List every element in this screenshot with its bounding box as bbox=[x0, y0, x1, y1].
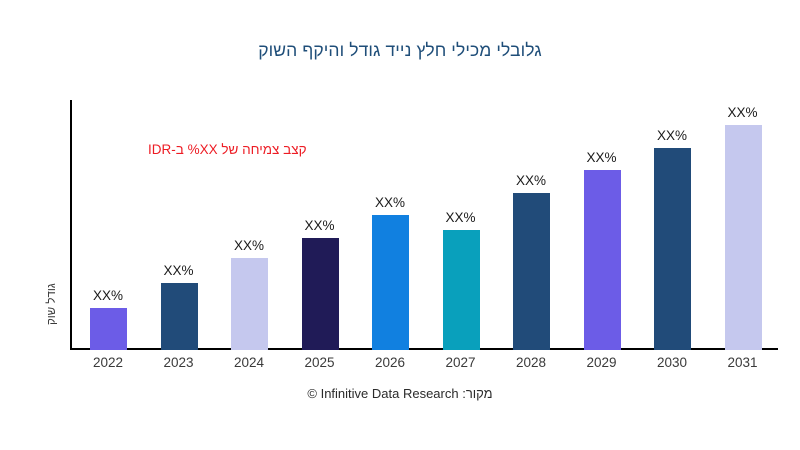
bar-group[interactable]: XX% bbox=[638, 100, 706, 350]
bar-2028[interactable] bbox=[513, 193, 550, 351]
x-tick-2026: 2026 bbox=[356, 355, 424, 370]
bar-value-label-2025: XX% bbox=[286, 218, 354, 233]
bar-group[interactable]: XX% bbox=[497, 100, 565, 350]
x-tick-2022: 2022 bbox=[74, 355, 142, 370]
bar-group[interactable]: XX% bbox=[568, 100, 636, 350]
x-axis-tick-labels: 2022202320242025202620272028202920302031 bbox=[70, 355, 782, 375]
bar-group[interactable]: XX% bbox=[286, 100, 354, 350]
bar-2022[interactable] bbox=[90, 308, 127, 351]
bar-2031[interactable] bbox=[725, 125, 762, 350]
bar-value-label-2030: XX% bbox=[638, 128, 706, 143]
bar-group[interactable]: XX% bbox=[427, 100, 495, 350]
bar-group[interactable]: XX% bbox=[709, 100, 777, 350]
bar-group[interactable]: XX% bbox=[215, 100, 283, 350]
bar-value-label-2031: XX% bbox=[709, 105, 777, 120]
x-tick-2031: 2031 bbox=[709, 355, 777, 370]
y-axis-label: גודל שוק bbox=[46, 283, 58, 325]
chart-container: גלובלי מכילי חלץ נייד גודל והיקף השוק גו… bbox=[0, 0, 800, 450]
bar-value-label-2023: XX% bbox=[145, 263, 213, 278]
bar-group[interactable]: XX% bbox=[356, 100, 424, 350]
x-tick-2023: 2023 bbox=[145, 355, 213, 370]
bar-2027[interactable] bbox=[443, 230, 480, 350]
bar-value-label-2024: XX% bbox=[215, 238, 283, 253]
x-tick-2029: 2029 bbox=[568, 355, 636, 370]
plot-area: גודל שוק קצב צמיחה של XX% ב-IDR XX%XX%XX… bbox=[70, 100, 782, 350]
bar-value-label-2028: XX% bbox=[497, 173, 565, 188]
bar-group[interactable]: XX% bbox=[145, 100, 213, 350]
x-tick-2024: 2024 bbox=[215, 355, 283, 370]
bar-2029[interactable] bbox=[584, 170, 621, 350]
bar-group[interactable]: XX% bbox=[74, 100, 142, 350]
bar-2024[interactable] bbox=[231, 258, 268, 351]
bar-2025[interactable] bbox=[302, 238, 339, 351]
bar-value-label-2027: XX% bbox=[427, 210, 495, 225]
x-tick-2028: 2028 bbox=[497, 355, 565, 370]
x-tick-2030: 2030 bbox=[638, 355, 706, 370]
bar-2023[interactable] bbox=[161, 283, 198, 351]
x-tick-2027: 2027 bbox=[427, 355, 495, 370]
bar-2030[interactable] bbox=[654, 148, 691, 351]
bar-value-label-2029: XX% bbox=[568, 150, 636, 165]
bars-layer: XX%XX%XX%XX%XX%XX%XX%XX%XX%XX% bbox=[70, 100, 782, 350]
bar-2026[interactable] bbox=[372, 215, 409, 350]
chart-title: גלובלי מכילי חלץ נייד גודל והיקף השוק bbox=[0, 40, 800, 61]
bar-value-label-2022: XX% bbox=[74, 288, 142, 303]
source-note: מקור: Infinitive Data Research © bbox=[0, 386, 800, 401]
bar-value-label-2026: XX% bbox=[356, 195, 424, 210]
x-tick-2025: 2025 bbox=[286, 355, 354, 370]
